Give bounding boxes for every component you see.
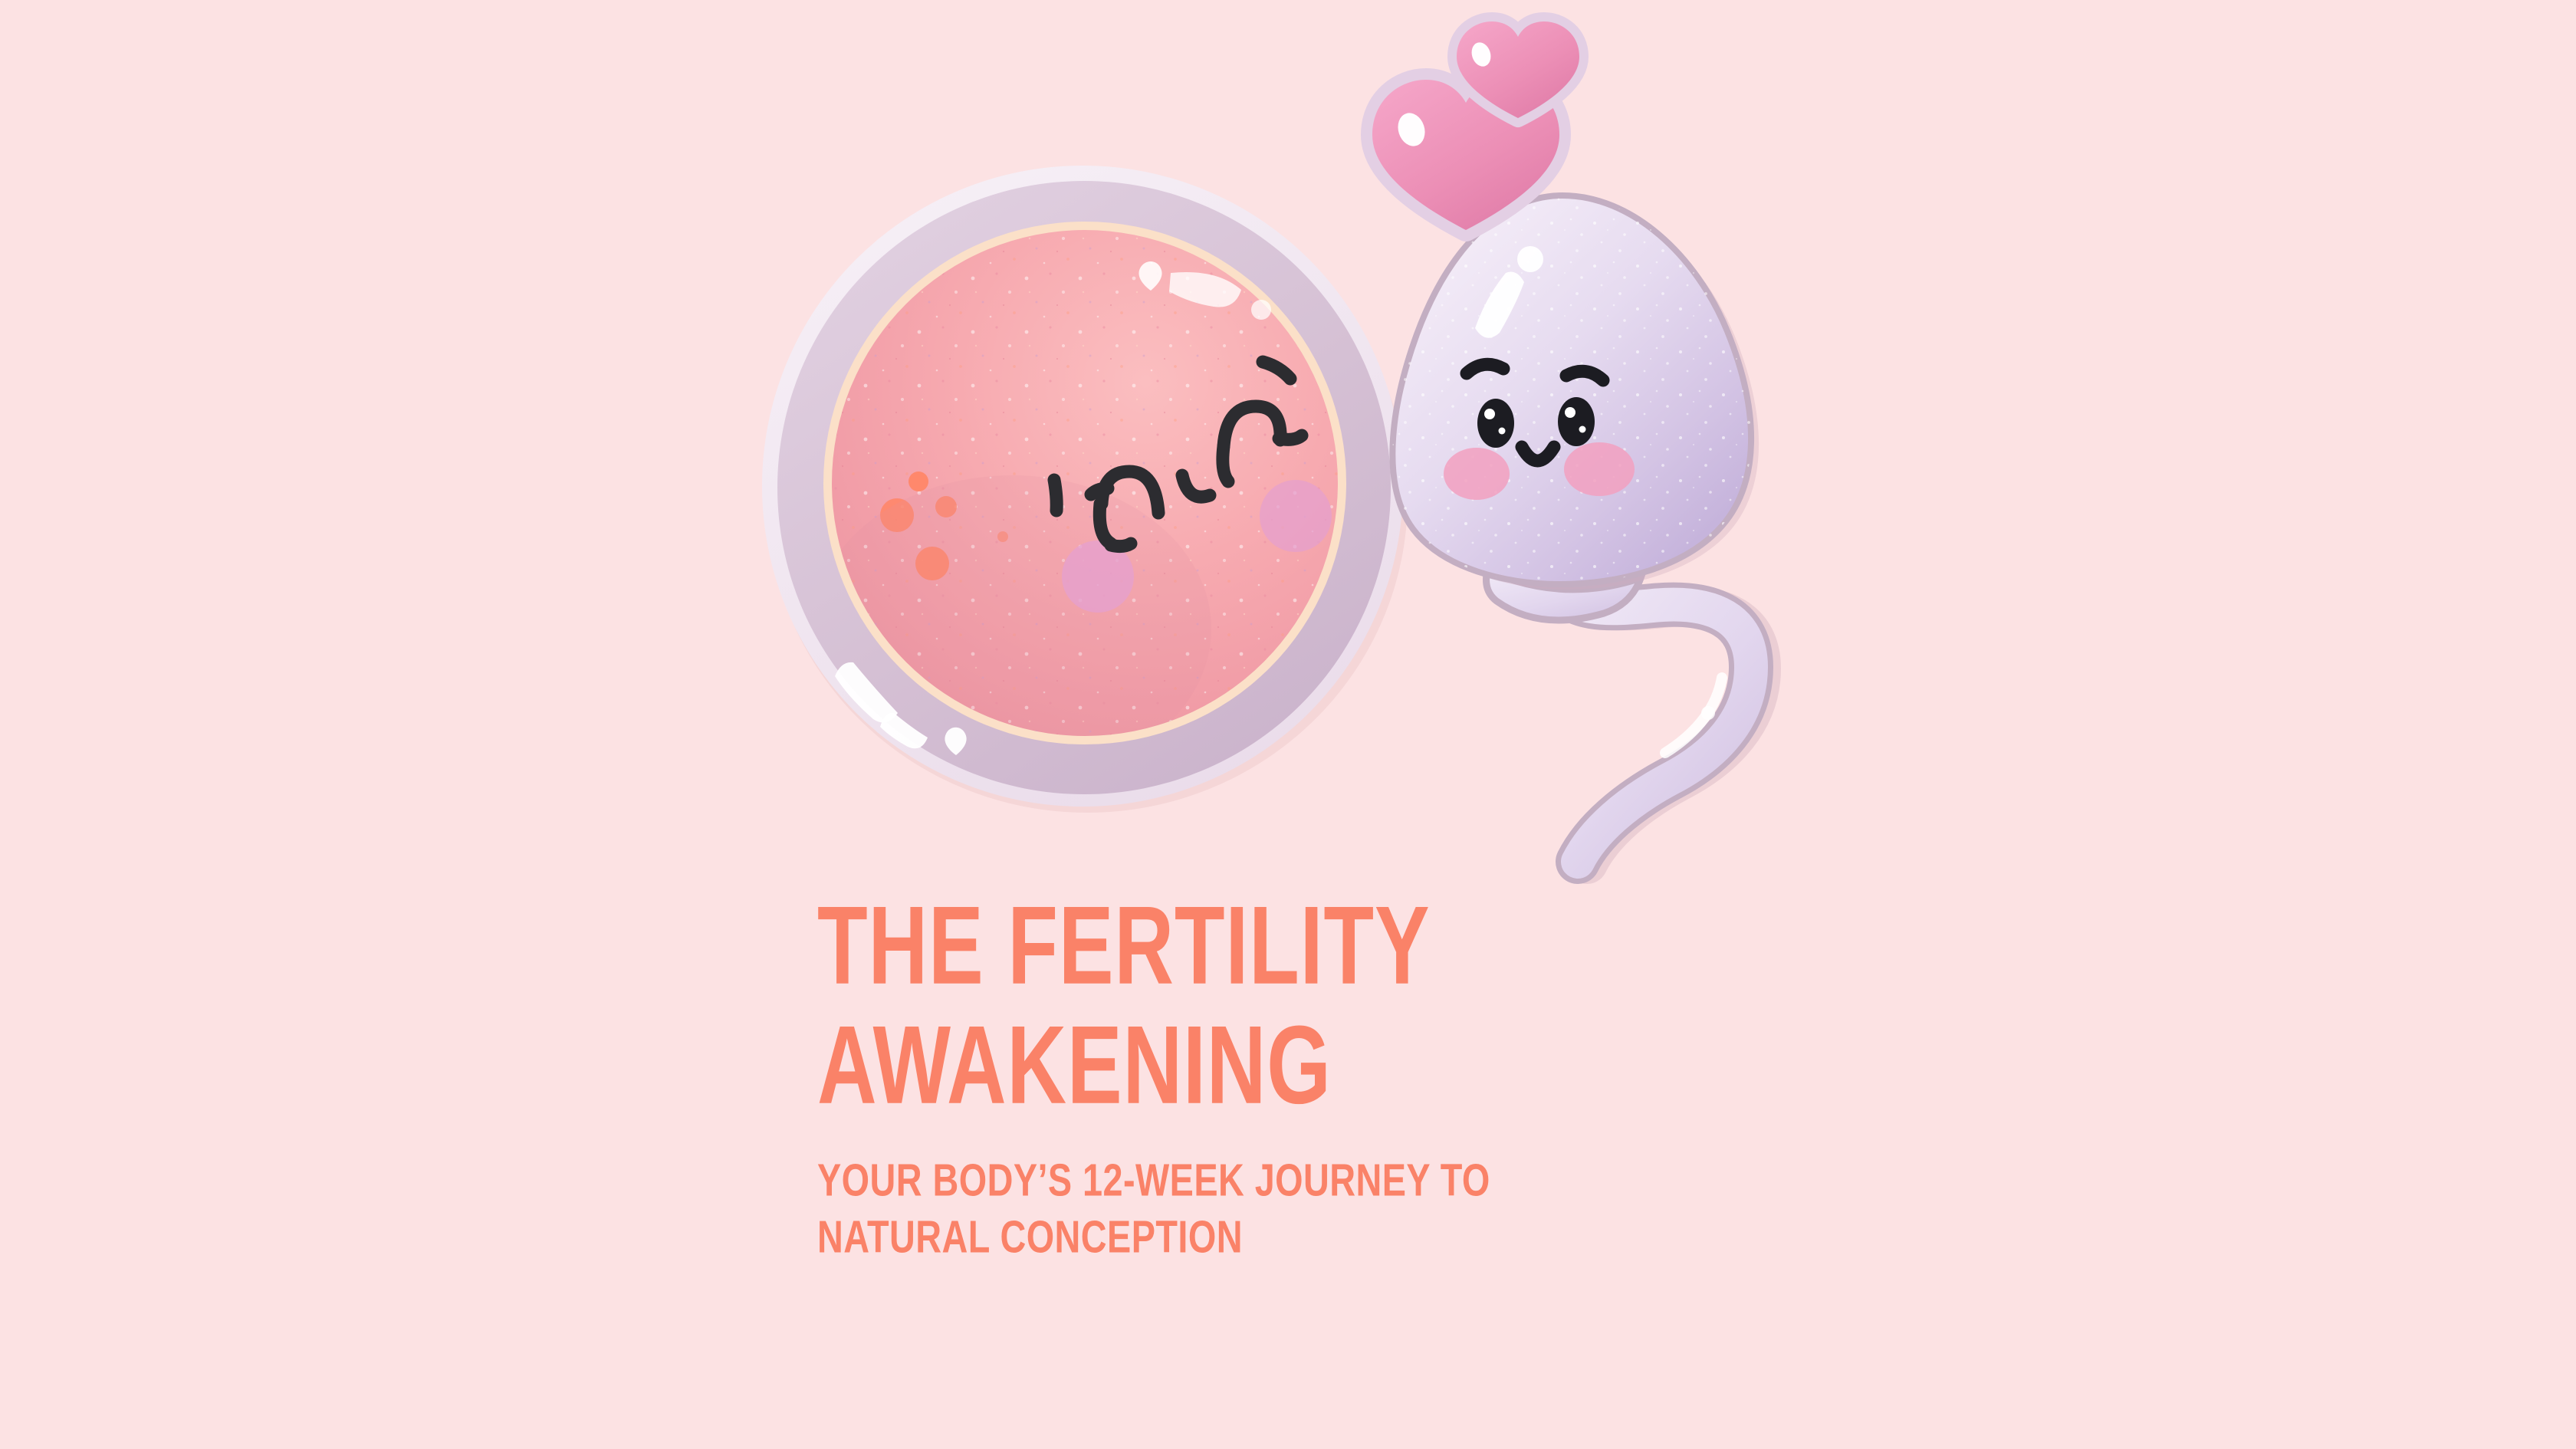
illustration-area: [0, 0, 2576, 920]
egg-face-arch-right-stem: [1223, 446, 1228, 481]
egg-face-arch-left-foot: [1111, 544, 1131, 547]
sperm-cheek-left: [1444, 448, 1510, 500]
egg-cell-character: [762, 166, 1408, 813]
sperm-cell-character: [1380, 184, 1779, 863]
text-block: THE FERTILITY AWAKENING YOUR BODY’S 12-W…: [817, 901, 2044, 1257]
egg-face-tick-left: [1054, 480, 1056, 511]
sperm-tail-gloss-dot: [1701, 706, 1715, 720]
sperm-gloss-dot: [1517, 246, 1543, 272]
egg-cheek-right: [1260, 480, 1332, 552]
subtitle-line-1: YOUR BODY’S 12-WEEK JOURNEY TO: [817, 1158, 1921, 1203]
sperm-eye-highlight-right-small: [1579, 426, 1586, 433]
poster-canvas: THE FERTILITY AWAKENING YOUR BODY’S 12-W…: [0, 0, 2576, 1449]
headline-line-1: THE FERTILITY: [817, 894, 1872, 998]
subtitle-line-2: NATURAL CONCEPTION: [817, 1214, 1921, 1260]
egg-gloss-dot: [1251, 300, 1271, 320]
sperm-eye-left: [1477, 399, 1514, 448]
headline-line-2: AWAKENING: [817, 1013, 1872, 1117]
egg-speck-dot: [909, 472, 928, 491]
sperm-eye-highlight-left-small: [1499, 428, 1506, 435]
sperm-cheek-right: [1564, 442, 1635, 496]
egg-face-arch-right-tail: [1279, 435, 1302, 439]
sperm-eye-highlight-left: [1484, 409, 1495, 419]
sperm-eye-right: [1558, 397, 1595, 446]
sperm-eye-highlight-right: [1565, 407, 1575, 418]
